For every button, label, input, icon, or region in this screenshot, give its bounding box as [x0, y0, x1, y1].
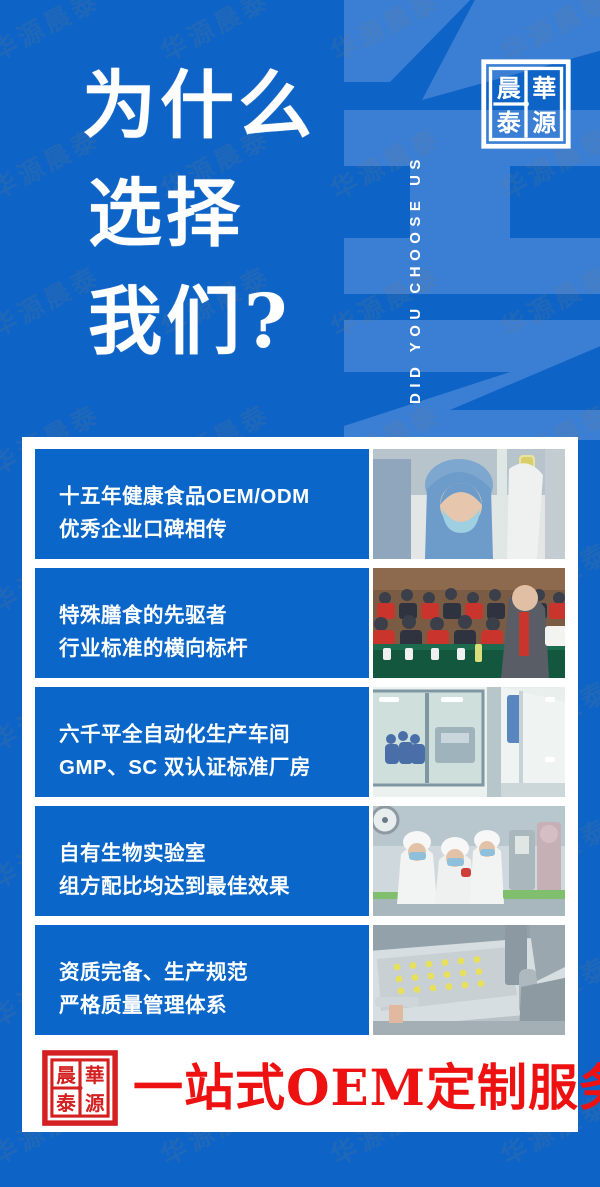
svg-text:源: 源: [85, 1092, 105, 1115]
feature-line-2: GMP、SC 双认证标准厂房: [59, 751, 369, 784]
svg-text:泰: 泰: [55, 1092, 76, 1115]
title-line-2: 选择: [88, 160, 316, 268]
feature-line-2: 组方配比均达到最佳效果: [59, 870, 369, 903]
svg-text:晨: 晨: [56, 1064, 76, 1087]
feature-card[interactable]: 自有生物实验室 组方配比均达到最佳效果: [35, 806, 565, 916]
feature-line-2: 严格质量管理体系: [59, 989, 369, 1022]
feature-card-text: 自有生物实验室 组方配比均达到最佳效果: [35, 806, 369, 916]
svg-text:華: 華: [532, 73, 556, 102]
svg-text:源: 源: [532, 108, 556, 137]
feature-card[interactable]: 十五年健康食品OEM/ODM 优秀企业口碑相传: [35, 449, 565, 559]
feature-card-image: [373, 925, 565, 1035]
feature-line-1: 十五年健康食品OEM/ODM: [59, 480, 369, 513]
feature-card-image: [373, 687, 565, 797]
feature-card-image: [373, 568, 565, 678]
feature-line-1: 特殊膳食的先驱者: [59, 599, 369, 632]
brand-seal-white: 晨 華 泰 源: [478, 56, 574, 152]
feature-line-1: 资质完备、生产规范: [59, 956, 369, 989]
vertical-tagline: DID YOU CHOOSE US: [407, 14, 433, 404]
feature-card-image: [373, 449, 565, 559]
brand-seal-red: 晨 華 泰 源: [41, 1049, 119, 1127]
svg-text:泰: 泰: [497, 108, 522, 137]
feature-card-image: [373, 806, 565, 916]
content-panel: 十五年健康食品OEM/ODM 优秀企业口碑相传: [22, 437, 578, 1132]
svg-text:晨: 晨: [497, 73, 522, 102]
feature-line-1: 自有生物实验室: [59, 837, 369, 870]
poster-root: 为什么 选择 我们? DID YOU CHOOSE US 晨 華 泰 源: [0, 0, 600, 1187]
feature-card-text: 资质完备、生产规范 严格质量管理体系: [35, 925, 369, 1035]
feature-line-2: 行业标准的横向标杆: [59, 632, 369, 665]
title-line-1: 为什么: [82, 52, 316, 160]
feature-card[interactable]: 六千平全自动化生产车间 GMP、SC 双认证标准厂房: [35, 687, 565, 797]
feature-line-2: 优秀企业口碑相传: [59, 513, 369, 546]
feature-card-text: 六千平全自动化生产车间 GMP、SC 双认证标准厂房: [35, 687, 369, 797]
poster-header: 为什么 选择 我们? DID YOU CHOOSE US 晨 華 泰 源: [0, 0, 600, 437]
footer-slogan: 一站式OEM定制服务: [133, 1060, 600, 1116]
footer-bar: 晨 華 泰 源 一站式OEM定制服务: [35, 1044, 565, 1132]
feature-card[interactable]: 资质完备、生产规范 严格质量管理体系: [35, 925, 565, 1035]
title-line-3: 我们?: [88, 268, 316, 376]
feature-line-1: 六千平全自动化生产车间: [59, 718, 369, 751]
page-title: 为什么 选择 我们?: [82, 52, 316, 376]
feature-card[interactable]: 特殊膳食的先驱者 行业标准的横向标杆: [35, 568, 565, 678]
svg-text:華: 華: [85, 1064, 105, 1087]
feature-card-text: 特殊膳食的先驱者 行业标准的横向标杆: [35, 568, 369, 678]
feature-card-text: 十五年健康食品OEM/ODM 优秀企业口碑相传: [35, 449, 369, 559]
